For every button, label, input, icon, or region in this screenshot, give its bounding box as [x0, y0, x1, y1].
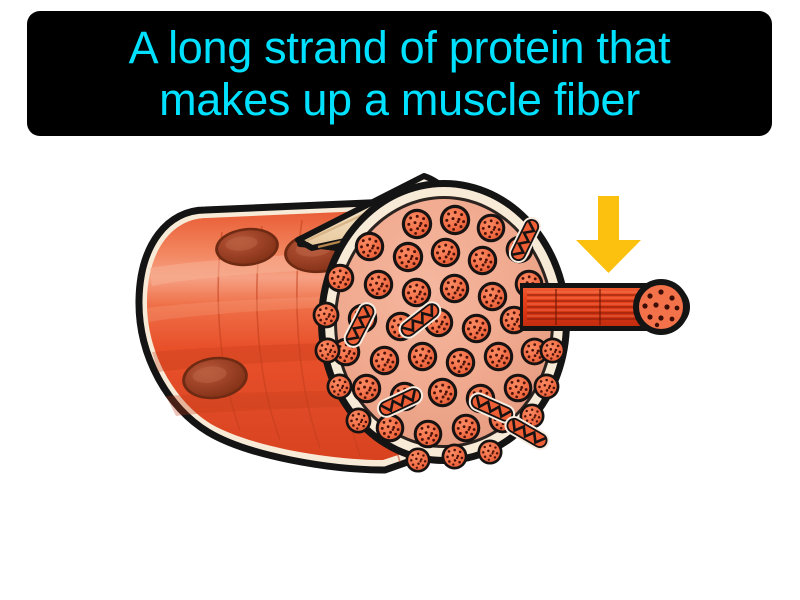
myofibril	[326, 264, 355, 293]
myofibril	[355, 232, 385, 262]
myofibril	[462, 314, 492, 344]
myofibril	[376, 414, 405, 443]
myofibril	[440, 274, 470, 304]
definition-banner: A long strand of protein that makes up a…	[27, 11, 772, 136]
myofibril	[393, 242, 423, 272]
myofibril	[370, 346, 400, 376]
myofibril	[402, 209, 432, 239]
myofibril	[446, 348, 476, 378]
myofibril	[408, 342, 438, 372]
myofibril	[534, 374, 560, 400]
definition-card: A long strand of protein that makes up a…	[0, 0, 800, 600]
myofibril	[477, 439, 502, 464]
muscle-fiber-svg	[0, 140, 800, 520]
myofibril	[405, 447, 430, 472]
pointer-arrow-icon	[576, 196, 641, 273]
myofibril	[484, 342, 514, 372]
myofibril	[504, 374, 533, 403]
myofibril	[428, 378, 458, 408]
myofibril	[468, 246, 498, 276]
myofibril	[440, 205, 470, 235]
myofibril	[327, 374, 353, 400]
myofibril	[540, 338, 566, 364]
myofibril	[452, 414, 481, 443]
myofibril	[313, 302, 340, 329]
myofibril	[477, 214, 506, 243]
myofibril	[442, 444, 468, 470]
myofibril	[352, 374, 382, 404]
myofibril	[346, 408, 372, 434]
extracted-myofibril	[520, 279, 690, 335]
myofibril	[414, 420, 443, 449]
myofibril	[364, 270, 394, 300]
myofibril	[315, 338, 341, 364]
definition-text: A long strand of protein that makes up a…	[129, 22, 671, 125]
muscle-fiber-illustration	[0, 140, 800, 520]
strand-end-cap	[633, 279, 689, 335]
myofibril	[478, 282, 508, 312]
myofibril	[431, 238, 461, 268]
